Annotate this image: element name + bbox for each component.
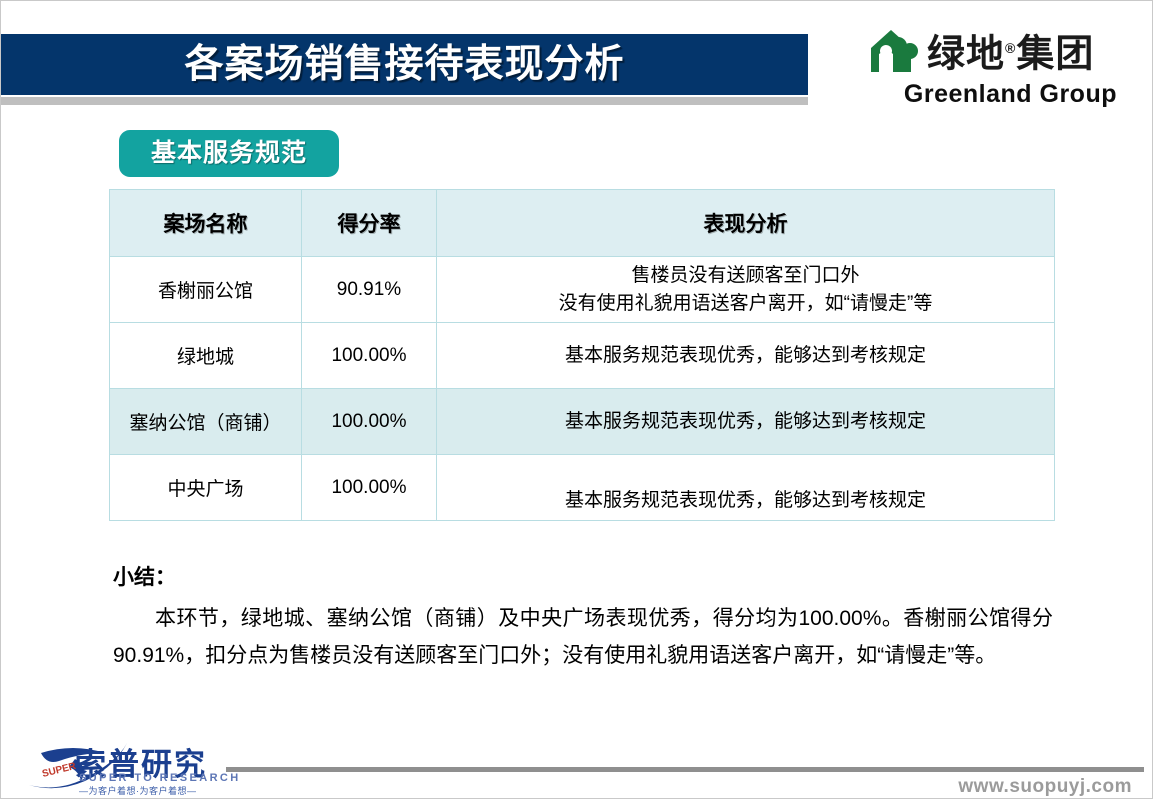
- super-badge-text: SUPER: [41, 761, 78, 780]
- cell-site-name: 绿地城: [110, 323, 302, 389]
- footer-logo-tagline: —为客户着想·为客户着想—: [79, 784, 197, 797]
- cell-analysis: 售楼员没有送顾客至门口外 没有使用礼貌用语送客户离开，如“请慢走”等: [437, 257, 1055, 323]
- header-bar: 各案场销售接待表现分析: [1, 34, 808, 95]
- summary-block: 小结： 本环节，绿地城、塞纳公馆（商铺）及中央广场表现优秀，得分均为100.00…: [113, 561, 1053, 675]
- greenland-name-en: Greenland Group: [867, 80, 1117, 109]
- footer-url: www.suopuyj.com: [958, 776, 1132, 798]
- house-tree-icon: [867, 26, 923, 76]
- cell-score-rate: 100.00%: [302, 323, 437, 389]
- summary-body: 本环节，绿地城、塞纳公馆（商铺）及中央广场表现优秀，得分均为100.00%。香榭…: [113, 601, 1053, 675]
- cell-analysis: 基本服务规范表现优秀，能够达到考核规定: [437, 455, 1055, 521]
- cell-score-rate: 100.00%: [302, 455, 437, 521]
- performance-table: 案场名称 得分率 表现分析 香榭丽公馆 90.91% 售楼员没有送顾客至门口外 …: [109, 189, 1055, 521]
- analysis-line-2: 没有使用礼貌用语送客户离开，如“请慢走”等: [443, 290, 1048, 318]
- table-header-row: 案场名称 得分率 表现分析: [110, 190, 1055, 257]
- page-title: 各案场销售接待表现分析: [1, 34, 808, 95]
- column-header-name: 案场名称: [110, 190, 302, 257]
- summary-title: 小结：: [113, 561, 1053, 591]
- greenland-logo: 绿地®集团 Greenland Group: [867, 23, 1117, 109]
- slide: 各案场销售接待表现分析 绿地®集团 Greenland Group 基本服务规范: [0, 0, 1153, 799]
- cell-score-rate: 100.00%: [302, 389, 437, 455]
- analysis-line-1: 售楼员没有送顾客至门口外: [443, 262, 1048, 290]
- table-row: 香榭丽公馆 90.91% 售楼员没有送顾客至门口外 没有使用礼貌用语送客户离开，…: [110, 257, 1055, 323]
- greenland-logo-row: 绿地®集团: [867, 23, 1117, 79]
- greenland-name-cn: 绿地®集团: [927, 23, 1094, 80]
- cell-analysis: 基本服务规范表现优秀，能够达到考核规定: [437, 389, 1055, 455]
- column-header-score: 得分率: [302, 190, 437, 257]
- cell-analysis: 基本服务规范表现优秀，能够达到考核规定: [437, 323, 1055, 389]
- cell-site-name: 中央广场: [110, 455, 302, 521]
- table-row: 塞纳公馆（商铺） 100.00% 基本服务规范表现优秀，能够达到考核规定: [110, 389, 1055, 455]
- header-underbar: [1, 97, 808, 105]
- table-body: 香榭丽公馆 90.91% 售楼员没有送顾客至门口外 没有使用礼貌用语送客户离开，…: [110, 257, 1055, 521]
- footer-divider: [226, 767, 1144, 772]
- section-badge: 基本服务规范: [119, 130, 339, 177]
- table-row: 中央广场 100.00% 基本服务规范表现优秀，能够达到考核规定: [110, 455, 1055, 521]
- footer-logo-name-en: SUPER TO RESEARCH: [79, 772, 241, 784]
- cell-site-name: 塞纳公馆（商铺）: [110, 389, 302, 455]
- table-row: 绿地城 100.00% 基本服务规范表现优秀，能够达到考核规定: [110, 323, 1055, 389]
- table-header: 案场名称 得分率 表现分析: [110, 190, 1055, 257]
- cell-score-rate: 90.91%: [302, 257, 437, 323]
- cell-site-name: 香榭丽公馆: [110, 257, 302, 323]
- column-header-note: 表现分析: [437, 190, 1055, 257]
